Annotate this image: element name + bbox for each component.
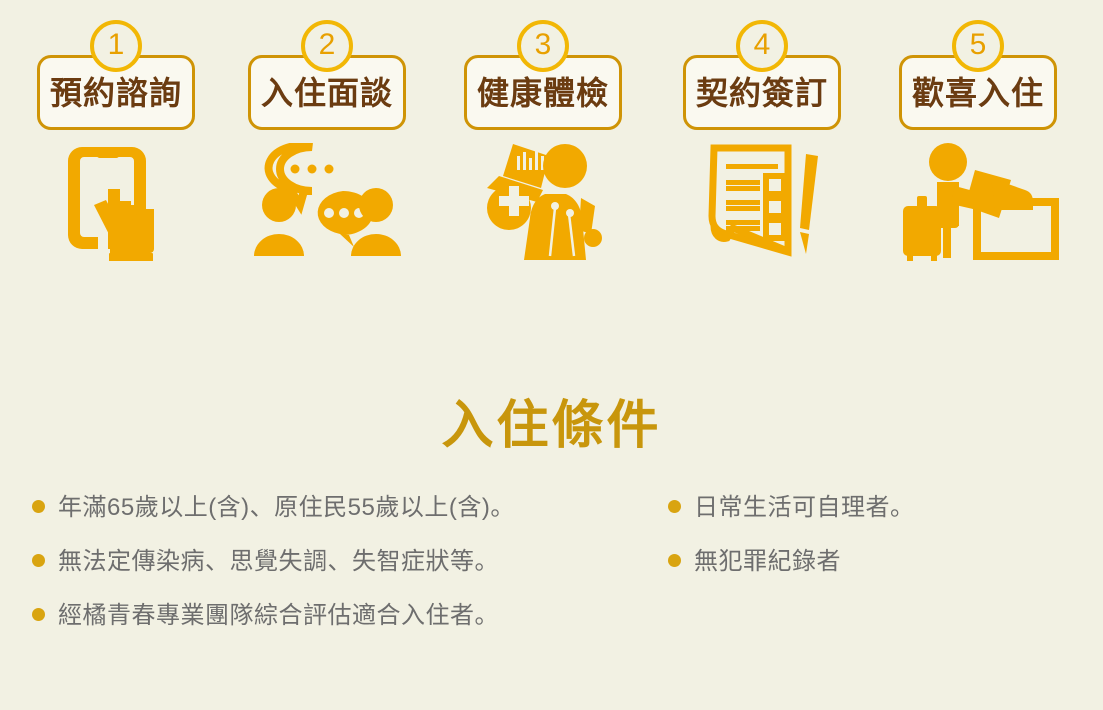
process-step-5[interactable]: 歡喜入住 5 (872, 20, 1084, 280)
step-1-badge-wrap: 預約諮詢 1 (10, 20, 222, 132)
phone-tap-icon (10, 138, 222, 263)
conditions-column-left: 年滿65歲以上(含)、原住民55歲以上(含)。 無法定傳染病、思覺失調、失智症狀… (32, 492, 632, 655)
contract-pen-icon (656, 138, 868, 263)
process-step-3[interactable]: 健康體檢 3 (437, 20, 649, 280)
step-2-badge-wrap: 入住面談 2 (221, 20, 433, 132)
step-3-label: 健康體檢 (477, 77, 609, 109)
condition-text: 年滿65歲以上(含)、原住民55歲以上(含)。 (58, 492, 515, 523)
list-item: 無犯罪紀錄者 (668, 546, 1068, 577)
step-2-number-badge: 2 (301, 20, 353, 72)
process-steps-row: 預約諮詢 1 (0, 0, 1103, 290)
list-item: 年滿65歲以上(含)、原住民55歲以上(含)。 (32, 492, 632, 523)
list-item: 日常生活可自理者。 (668, 492, 1068, 523)
process-step-4[interactable]: 契約簽訂 4 (656, 20, 868, 280)
step-5-label: 歡喜入住 (912, 77, 1044, 109)
condition-text: 無犯罪紀錄者 (694, 546, 841, 577)
step-2-number: 2 (319, 30, 336, 60)
list-item: 無法定傳染病、思覺失調、失智症狀等。 (32, 546, 632, 577)
page-title: 入住條件 (0, 383, 1103, 458)
step-4-number: 4 (754, 30, 771, 60)
condition-text: 無法定傳染病、思覺失調、失智症狀等。 (58, 546, 499, 577)
step-5-number: 5 (970, 30, 987, 60)
step-1-number-badge: 1 (90, 20, 142, 72)
step-5-badge-wrap: 歡喜入住 5 (872, 20, 1084, 132)
condition-text: 日常生活可自理者。 (694, 492, 915, 523)
conditions-column-right: 日常生活可自理者。 無犯罪紀錄者 (668, 492, 1068, 600)
step-4-label: 契約簽訂 (696, 77, 828, 109)
condition-text: 經橘青春專業團隊綜合評估適合入住者。 (58, 600, 499, 631)
step-1-label: 預約諮詢 (50, 77, 182, 109)
step-4-number-badge: 4 (736, 20, 788, 72)
people-chat-icon (221, 138, 433, 263)
bullet-icon (32, 500, 45, 513)
step-2-label: 入住面談 (261, 77, 393, 109)
step-3-number: 3 (535, 30, 552, 60)
process-step-2[interactable]: 入住面談 2 (221, 20, 433, 280)
step-1-number: 1 (108, 30, 125, 60)
process-step-1[interactable]: 預約諮詢 1 (10, 20, 222, 280)
doctor-laptop-cross-icon (437, 138, 649, 263)
step-3-number-badge: 3 (517, 20, 569, 72)
person-luggage-box-icon (872, 138, 1084, 263)
bullet-icon (668, 554, 681, 567)
list-item: 經橘青春專業團隊綜合評估適合入住者。 (32, 600, 632, 631)
bullet-icon (668, 500, 681, 513)
conditions-area: 年滿65歲以上(含)、原住民55歲以上(含)。 無法定傳染病、思覺失調、失智症狀… (0, 492, 1103, 672)
bullet-icon (32, 608, 45, 621)
step-3-badge-wrap: 健康體檢 3 (437, 20, 649, 132)
step-4-badge-wrap: 契約簽訂 4 (656, 20, 868, 132)
bullet-icon (32, 554, 45, 567)
step-5-number-badge: 5 (952, 20, 1004, 72)
